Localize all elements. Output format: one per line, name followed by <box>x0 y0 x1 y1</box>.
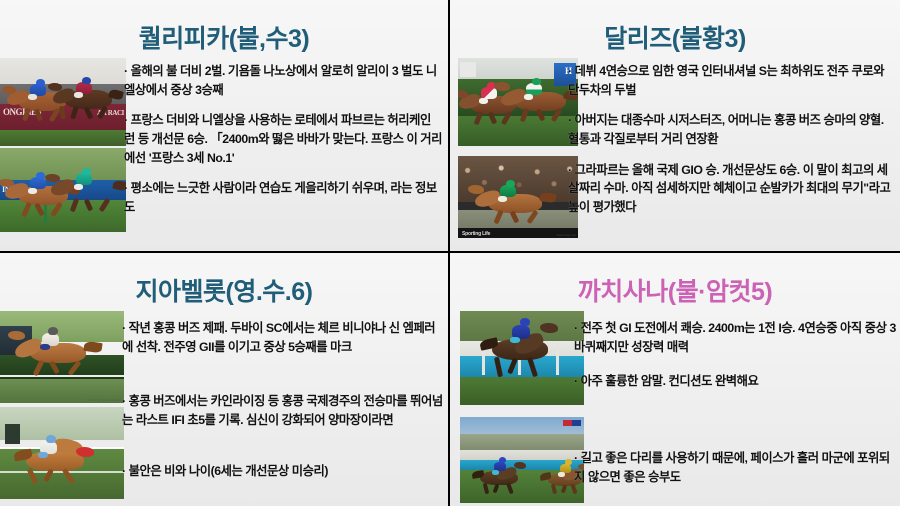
bullet-item: · 아버지는 대종수마 시저스터즈, 어머니는 홍콩 버즈 승마의 양혈. 혈통… <box>568 111 896 148</box>
bullet-item: · 홍콩 버즈에서는 카인라이징 등 홍콩 국제경주의 전승마를 뛰어넘는 라스… <box>122 392 444 429</box>
bullet-item: · 그라파르는 올해 국제 GIO 승. 개선문상도 6승. 이 말이 최고의 … <box>568 161 896 217</box>
photo-credit: 출처: Racingfotos / Daily Tele <box>80 227 124 231</box>
page-title-dalize: 달리즈(불황3) <box>450 17 900 54</box>
bullet-item: · 아주 훌륭한 암말. 컨디션도 완벽해요 <box>574 372 896 391</box>
photo-longines-turf: INES <box>0 148 126 232</box>
photo-stack-qualifica: ONGINES AR RACI <box>0 58 126 232</box>
photo-longines-finish: ONGINES AR RACI <box>0 58 126 146</box>
bullet-item: · 길고 좋은 다리를 사용하기 때문에, 페이스가 흘러 마군에 포위되지 않… <box>574 449 896 486</box>
panel-dalize: 달리즈(불황3) H <box>450 0 900 253</box>
bullet-item: · 불안은 비와 나이(6세는 개선문상 미승리) <box>122 462 444 481</box>
bullet-item: · 프랑스 더비와 니엘상을 사용하는 로테에서 파브르는 허리케인 런 등 개… <box>124 111 444 167</box>
bullet-list-kkachisana: · 전주 첫 GI 도전에서 쾌승. 2400m는 1전 I승. 4연승중 아직… <box>574 319 896 486</box>
panel-kkachisana: 까치사나(불·암컷5) <box>450 253 900 506</box>
photo-chestnut-hedge: Photo by Steve Davies <box>0 311 124 403</box>
photo-credit: Sporting Life <box>557 233 576 237</box>
bullet-item: · 전주 첫 GI 도전에서 쾌승. 2400m는 1전 I승. 4연승중 아직… <box>574 319 896 356</box>
photo-credit: Photo <box>573 498 582 502</box>
photo-two-horses-duel: H <box>458 58 578 146</box>
page-title-qualifica: 퀄리피카(불,수3) <box>0 17 448 54</box>
bullet-list-giavellotto: · 작년 홍콩 버즈 제패. 두바이 SC에서는 체르 비니야나 신 엠페러에 … <box>122 319 444 480</box>
photo-stack-dalize: H <box>458 58 578 238</box>
panel-qualifica: 퀄리피카(불,수3) ONGINES AR RACI <box>0 0 450 253</box>
page-title-kkachisana: 까치사나(불·암컷5) <box>450 270 900 307</box>
bullet-list-dalize: · 데뷔 4연승으로 임한 영국 인터내셔널 S는 최하위도 전주 쿠로와 단두… <box>568 62 896 217</box>
page-title-giavellotto: 지아벨롯(영.수.6) <box>0 270 448 307</box>
photo-stack-kkachisana: Photo <box>460 311 584 503</box>
bullet-item: · 올해의 불 더비 2벌. 기욤돌 나노상에서 알로히 알리이 3 벌도 니엘… <box>124 62 444 99</box>
panel-giavellotto: 지아벨롯(영.수.6) <box>0 253 450 506</box>
photo-credit: Photo by Racing Post <box>91 141 124 145</box>
photo-sporting-life: Sporting Life Sporting Life <box>458 156 578 238</box>
photo-red-hood: Photo by Edward Whitaker <box>0 407 124 499</box>
bullet-item: · 데뷔 4연승으로 임한 영국 인터내셔널 S는 최하위도 전주 쿠로와 단두… <box>568 62 896 99</box>
photo-stack-giavellotto: Photo by Steve Davies <box>0 311 124 499</box>
photo-blue-silks-rail: Photo <box>460 311 584 405</box>
bullet-item: · 평소에는 느긋한 사람이라 연습도 게을리하기 쉬우며, 라는 정보도 <box>124 179 444 216</box>
bullet-list-qualifica: · 올해의 불 더비 2벌. 기욤돌 나노상에서 알로히 알리이 3 벌도 니엘… <box>124 62 444 217</box>
slide-grid: 퀄리피카(불,수3) ONGINES AR RACI <box>0 0 900 506</box>
photo-credit: Photo by Steve Davies <box>87 398 122 402</box>
bullet-item: · 작년 홍콩 버즈 제패. 두바이 SC에서는 체르 비니야나 신 엠페러에 … <box>122 319 444 356</box>
photo-credit: Photo by Edward Whitaker <box>82 494 122 498</box>
photo-wide-track: Photo <box>460 417 584 503</box>
